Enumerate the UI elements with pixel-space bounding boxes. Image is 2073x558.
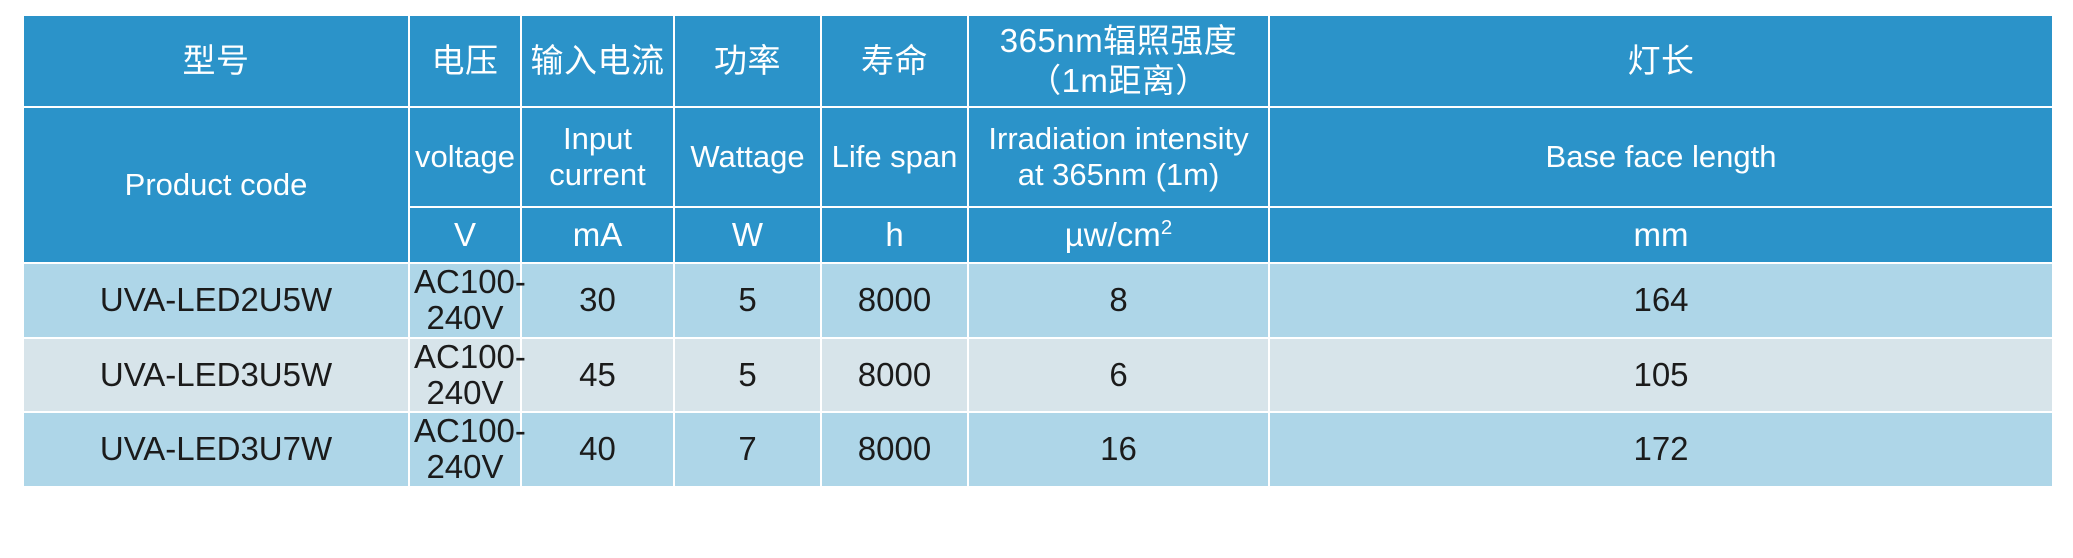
cell-life-span: 8000 — [821, 338, 968, 413]
header-unit-irradiation-base: µw/cm — [1065, 216, 1161, 253]
cell-wattage: 5 — [674, 263, 821, 338]
cell-base-face-length: 172 — [1269, 412, 2053, 487]
cell-voltage: AC100-240V — [409, 338, 521, 413]
product-specification-table: 型号 电压 输入电流 功率 寿命 365nm辐照强度 （1m距离） 灯长 Pro… — [22, 14, 2054, 488]
header-cn-product-code: 型号 — [23, 15, 409, 107]
header-unit-wattage: W — [674, 207, 821, 263]
header-en-input-current: Input current — [521, 107, 674, 207]
cell-product-code: UVA-LED3U5W — [23, 338, 409, 413]
header-unit-irradiation: µw/cm2 — [968, 207, 1269, 263]
cell-input-current: 45 — [521, 338, 674, 413]
header-en-input-current-line2: current — [526, 157, 669, 193]
header-en-voltage: voltage — [409, 107, 521, 207]
header-unit-input-current: mA — [521, 207, 674, 263]
header-cn-base-face-length: 灯长 — [1269, 15, 2053, 107]
header-cn-voltage: 电压 — [409, 15, 521, 107]
table-row: UVA-LED3U7W AC100-240V 40 7 8000 16 172 — [23, 412, 2053, 487]
cell-life-span: 8000 — [821, 412, 968, 487]
header-en-irradiation-line1: Irradiation intensity — [973, 121, 1264, 157]
cell-product-code: UVA-LED3U7W — [23, 412, 409, 487]
header-unit-irradiation-exponent: 2 — [1161, 216, 1172, 239]
table-row: UVA-LED2U5W AC100-240V 30 5 8000 8 164 — [23, 263, 2053, 338]
cell-base-face-length: 105 — [1269, 338, 2053, 413]
header-en-base-face-length: Base face length — [1269, 107, 2053, 207]
header-cn-irradiation-line2: （1m距离） — [973, 61, 1264, 101]
cell-irradiation: 8 — [968, 263, 1269, 338]
header-row-english: Product code voltage Input current Watta… — [23, 107, 2053, 207]
cell-voltage: AC100-240V — [409, 412, 521, 487]
header-en-product-code: Product code — [23, 107, 409, 263]
header-unit-voltage: V — [409, 207, 521, 263]
cell-irradiation: 6 — [968, 338, 1269, 413]
header-en-irradiation: Irradiation intensity at 365nm (1m) — [968, 107, 1269, 207]
cell-wattage: 5 — [674, 338, 821, 413]
cell-product-code: UVA-LED2U5W — [23, 263, 409, 338]
cell-input-current: 30 — [521, 263, 674, 338]
cell-wattage: 7 — [674, 412, 821, 487]
header-cn-wattage: 功率 — [674, 15, 821, 107]
header-en-irradiation-line2: at 365nm (1m) — [973, 157, 1264, 193]
table-row: UVA-LED3U5W AC100-240V 45 5 8000 6 105 — [23, 338, 2053, 413]
header-cn-life-span: 寿命 — [821, 15, 968, 107]
header-cn-input-current: 输入电流 — [521, 15, 674, 107]
cell-voltage: AC100-240V — [409, 263, 521, 338]
header-en-wattage: Wattage — [674, 107, 821, 207]
spec-table-sheet: 型号 电压 输入电流 功率 寿命 365nm辐照强度 （1m距离） 灯长 Pro… — [0, 0, 2073, 558]
header-en-life-span: Life span — [821, 107, 968, 207]
cell-base-face-length: 164 — [1269, 263, 2053, 338]
header-cn-irradiation: 365nm辐照强度 （1m距离） — [968, 15, 1269, 107]
header-unit-base-face-length: mm — [1269, 207, 2053, 263]
header-row-chinese: 型号 电压 输入电流 功率 寿命 365nm辐照强度 （1m距离） 灯长 — [23, 15, 2053, 107]
header-en-input-current-line1: Input — [526, 121, 669, 157]
header-unit-life-span: h — [821, 207, 968, 263]
cell-life-span: 8000 — [821, 263, 968, 338]
cell-input-current: 40 — [521, 412, 674, 487]
cell-irradiation: 16 — [968, 412, 1269, 487]
header-cn-irradiation-line1: 365nm辐照强度 — [973, 21, 1264, 61]
